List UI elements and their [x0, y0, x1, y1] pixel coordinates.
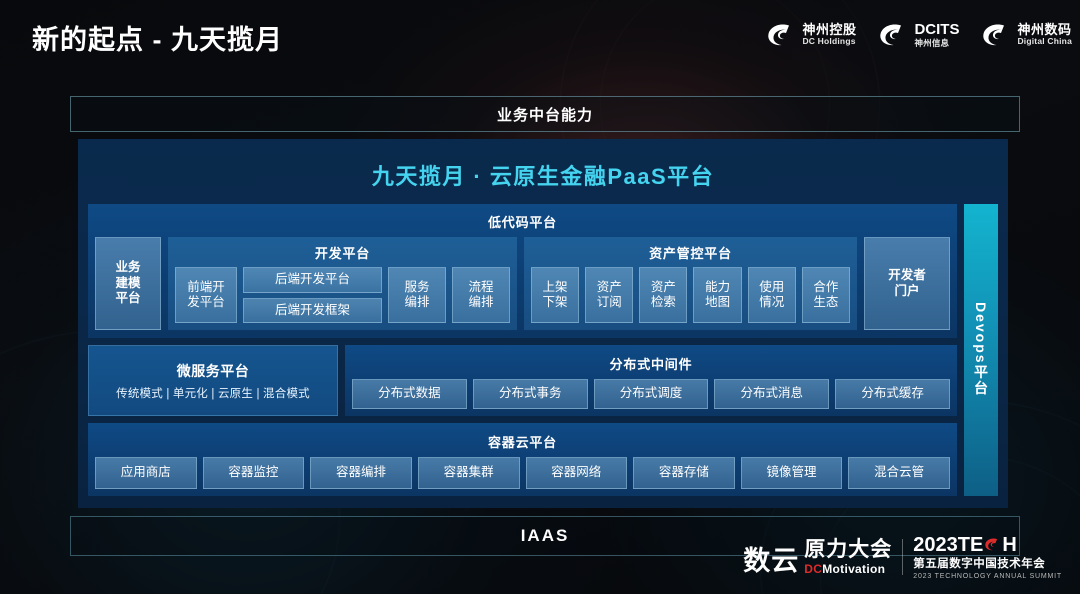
microservice-platform-panel[interactable]: 微服务平台 传统模式 | 单元化 | 云原生 | 混合模式 — [88, 345, 338, 416]
microservice-platform-subtitle: 传统模式 | 单元化 | 云原生 | 混合模式 — [116, 385, 310, 401]
tile-line: 合作 — [813, 280, 838, 296]
footer-brand: 数云 原力大会 DCMotivation 2023TE H 第五届数字中国技术年… — [743, 535, 1062, 581]
tile-line: 地图 — [705, 295, 730, 311]
tile-line: 资产 — [651, 280, 676, 296]
middleware-row: 分布式数据 分布式事务 分布式调度 分布式消息 分布式缓存 — [352, 379, 950, 409]
tile-distributed-cache[interactable]: 分布式缓存 — [835, 379, 950, 409]
tile-process-orchestration[interactable]: 流程 编排 — [452, 267, 510, 323]
tile-line: 流程 — [468, 280, 493, 296]
asset-management-subpanel: 资产管控平台 上架 下架 — [524, 237, 857, 330]
brand-dcmotivation: DCMotivation — [804, 563, 892, 575]
lowcode-platform-panel: 低代码平台 业务 建模 平台 开发平台 — [88, 204, 957, 338]
asset-management-title: 资产管控平台 — [531, 242, 850, 267]
tile-backend-dev-framework[interactable]: 后端开发框架 — [243, 298, 382, 324]
backend-stack: 后端开发平台 后端开发框架 — [243, 267, 382, 323]
tile-asset-listing[interactable]: 上架 下架 — [531, 267, 579, 323]
tile-line: 建模 — [115, 276, 140, 292]
tile-container-orchestration[interactable]: 容器编排 — [310, 457, 412, 489]
tile-line: 资产 — [597, 280, 622, 296]
tile-hybrid-cloud-management[interactable]: 混合云管 — [848, 457, 950, 489]
architecture-diagram: 业务中台能力 九天揽月 · 云原生金融PaaS平台 低代码平台 业务 建模 — [70, 96, 1020, 556]
paas-title: 九天揽月 · 云原生金融PaaS平台 — [88, 149, 998, 204]
logo-group: 神州控股 DC Holdings DCITS 神州信息 神州数码 — [766, 22, 1072, 48]
asset-management-row: 上架 下架 资产 订阅 — [531, 267, 850, 323]
middleware-panel: 分布式中间件 分布式数据 分布式事务 分布式调度 分布式消息 分布式缓存 — [345, 345, 957, 416]
tile-usage-status[interactable]: 使用 情况 — [748, 267, 796, 323]
tile-line: 下架 — [543, 295, 568, 311]
tile-distributed-scheduling[interactable]: 分布式调度 — [594, 379, 709, 409]
tile-distributed-data[interactable]: 分布式数据 — [352, 379, 467, 409]
band-business-midplatform: 业务中台能力 — [70, 96, 1020, 132]
tile-line: 开发者 — [888, 268, 926, 284]
swirl-logo-icon — [984, 536, 1001, 553]
middle-row: 微服务平台 传统模式 | 单元化 | 云原生 | 混合模式 分布式中间件 分布式… — [88, 345, 957, 416]
logo-dc-holdings: 神州控股 DC Holdings — [766, 22, 856, 48]
paas-rows: 低代码平台 业务 建模 平台 开发平台 — [88, 204, 957, 496]
event-logo: 2023TE H 第五届数字中国技术年会 2023 TECHNOLOGY ANN… — [913, 535, 1062, 581]
slide-root: 新的起点 - 九天揽月 神州控股 DC Holdings DCITS 神州信息 — [0, 0, 1080, 594]
swirl-logo-icon — [766, 22, 796, 48]
tile-capability-map[interactable]: 能力 地图 — [693, 267, 741, 323]
tile-distributed-transaction[interactable]: 分布式事务 — [473, 379, 588, 409]
tile-line: 订阅 — [597, 295, 622, 311]
tile-asset-search[interactable]: 资产 检索 — [639, 267, 687, 323]
tile-container-network[interactable]: 容器网络 — [526, 457, 628, 489]
logo-label-cn: 神州控股 — [802, 23, 856, 37]
tile-line: 情况 — [759, 295, 784, 311]
tile-line: 使用 — [759, 280, 784, 296]
swirl-logo-icon — [981, 22, 1011, 48]
tile-frontend-dev-platform[interactable]: 前端开 发平台 — [175, 267, 237, 323]
tile-line: 能力 — [705, 280, 730, 296]
tile-line: 上架 — [543, 280, 568, 296]
tile-container-storage[interactable]: 容器存储 — [633, 457, 735, 489]
tile-container-cluster[interactable]: 容器集群 — [418, 457, 520, 489]
logo-dcits: DCITS 神州信息 — [878, 22, 959, 48]
middleware-title: 分布式中间件 — [352, 352, 950, 379]
tile-developer-portal[interactable]: 开发者 门户 — [864, 237, 950, 330]
event-subtitle-cn: 第五届数字中国技术年会 — [913, 559, 1045, 571]
dev-platform-subpanel: 开发平台 前端开 发平台 后端开发平台 — [168, 237, 517, 330]
container-cloud-row: 应用商店 容器监控 容器编排 容器集群 容器网络 容器存储 镜像管理 混合云管 — [95, 457, 950, 489]
tile-business-modeling-platform[interactable]: 业务 建模 平台 — [95, 237, 161, 330]
event-year-tech-pre: 2023TE — [913, 535, 983, 555]
tile-line: 编排 — [468, 295, 493, 311]
brand-dc: DC — [804, 562, 822, 576]
tile-line: 生态 — [813, 295, 838, 311]
container-cloud-panel: 容器云平台 应用商店 容器监控 容器编排 容器集群 容器网络 容器存储 镜像管理… — [88, 423, 957, 496]
tile-line: 平台 — [115, 291, 140, 307]
tile-line: 门户 — [888, 284, 926, 300]
paas-rows-wrapper: 低代码平台 业务 建模 平台 开发平台 — [88, 204, 998, 496]
logo-label-en: Digital China — [1017, 37, 1072, 46]
swirl-logo-icon — [878, 22, 908, 48]
brand-yuanli: 原力大会 — [804, 539, 892, 560]
event-subtitle-en: 2023 TECHNOLOGY ANNUAL SUMMIT — [913, 573, 1062, 580]
dev-platform-row: 前端开 发平台 后端开发平台 后端开发框架 — [175, 267, 510, 323]
logo-label-en: DC Holdings — [802, 37, 856, 46]
brand-shuyun: 数云 — [743, 548, 799, 575]
tile-partner-ecosystem[interactable]: 合作 生态 — [802, 267, 850, 323]
slide-header: 新的起点 - 九天揽月 神州控股 DC Holdings DCITS 神州信息 — [0, 0, 1080, 72]
dev-platform-title: 开发平台 — [175, 242, 510, 267]
lowcode-body: 业务 建模 平台 开发平台 — [95, 237, 950, 330]
page-title: 新的起点 - 九天揽月 — [32, 18, 283, 57]
tile-line: 服务 — [404, 280, 429, 296]
tile-line: 检索 — [651, 295, 676, 311]
conference-logo: 数云 原力大会 DCMotivation — [743, 539, 892, 575]
lowcode-platform-title: 低代码平台 — [95, 210, 950, 237]
brand-yuanli-block: 原力大会 DCMotivation — [804, 539, 892, 575]
tile-line: 发平台 — [187, 295, 225, 311]
event-year-tech-post: H — [1002, 535, 1016, 555]
tile-line: 编排 — [404, 295, 429, 311]
logo-label-cn: 神州数码 — [1017, 23, 1072, 37]
logo-digital-china: 神州数码 Digital China — [981, 22, 1072, 48]
tile-asset-subscription[interactable]: 资产 订阅 — [585, 267, 633, 323]
footer-divider — [902, 539, 903, 575]
devops-platform-label: Devops平台 — [971, 302, 991, 397]
tile-image-management[interactable]: 镜像管理 — [741, 457, 843, 489]
paas-platform-box: 九天揽月 · 云原生金融PaaS平台 低代码平台 业务 建模 平台 — [78, 139, 1008, 508]
tile-service-orchestration[interactable]: 服务 编排 — [388, 267, 446, 323]
logo-label-en: 神州信息 — [914, 39, 959, 48]
brand-motivation: Motivation — [822, 562, 885, 576]
tile-line: 业务 — [115, 260, 140, 276]
devops-platform-bar[interactable]: Devops平台 — [964, 204, 998, 496]
container-cloud-title: 容器云平台 — [95, 430, 950, 457]
tile-distributed-messaging[interactable]: 分布式消息 — [714, 379, 829, 409]
tile-container-monitoring[interactable]: 容器监控 — [203, 457, 305, 489]
logo-label-cn: DCITS — [914, 22, 959, 38]
microservice-platform-title: 微服务平台 — [177, 361, 250, 381]
tile-backend-dev-platform[interactable]: 后端开发平台 — [243, 267, 382, 293]
event-title-row: 2023TE H — [913, 535, 1017, 555]
tile-app-store[interactable]: 应用商店 — [95, 457, 197, 489]
tile-line: 前端开 — [187, 280, 225, 296]
